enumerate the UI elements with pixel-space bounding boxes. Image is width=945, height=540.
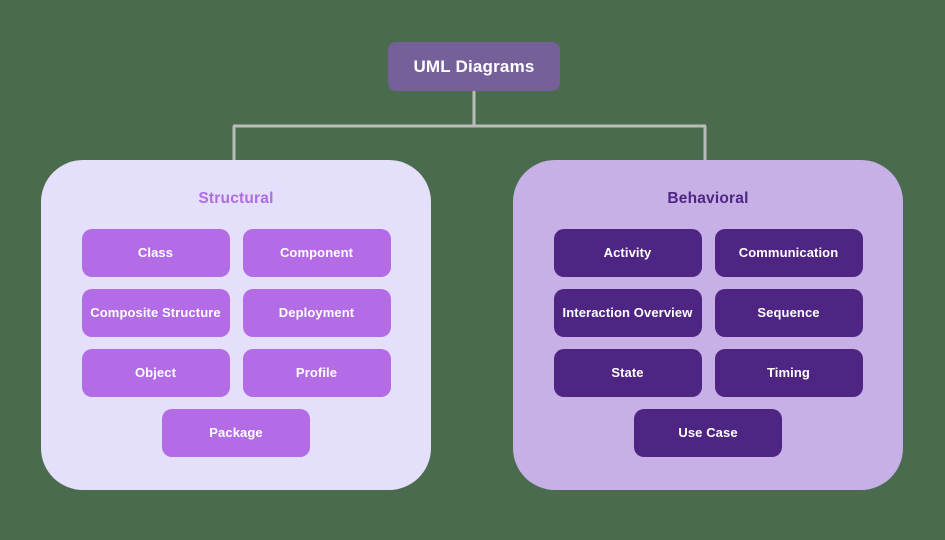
type-chip-object[interactable]: Object <box>82 349 230 397</box>
type-grid-behavioral: Activity Communication Interaction Overv… <box>513 229 903 457</box>
branch-title-structural: Structural <box>41 190 431 208</box>
type-chip-use-case[interactable]: Use Case <box>634 409 782 457</box>
type-chip-state[interactable]: State <box>554 349 702 397</box>
type-chip-timing[interactable]: Timing <box>715 349 863 397</box>
type-chip-deployment[interactable]: Deployment <box>243 289 391 337</box>
type-chip-class[interactable]: Class <box>82 229 230 277</box>
type-chip-composite-structure[interactable]: Composite Structure <box>82 289 230 337</box>
branch-panel-behavioral[interactable]: Behavioral Activity Communication Intera… <box>513 160 903 490</box>
type-chip-sequence[interactable]: Sequence <box>715 289 863 337</box>
type-grid-structural: Class Component Composite Structure Depl… <box>41 229 431 457</box>
type-chip-interaction-overview[interactable]: Interaction Overview <box>554 289 702 337</box>
type-chip-communication[interactable]: Communication <box>715 229 863 277</box>
uml-diagram-canvas: UML Diagrams Structural Class Component … <box>0 0 945 540</box>
type-chip-package[interactable]: Package <box>162 409 310 457</box>
type-chip-profile[interactable]: Profile <box>243 349 391 397</box>
type-chip-activity[interactable]: Activity <box>554 229 702 277</box>
type-chip-component[interactable]: Component <box>243 229 391 277</box>
branch-title-behavioral: Behavioral <box>513 190 903 208</box>
root-node-label: UML Diagrams <box>413 57 534 77</box>
branch-panel-structural[interactable]: Structural Class Component Composite Str… <box>41 160 431 490</box>
root-node-uml-diagrams[interactable]: UML Diagrams <box>388 42 560 91</box>
